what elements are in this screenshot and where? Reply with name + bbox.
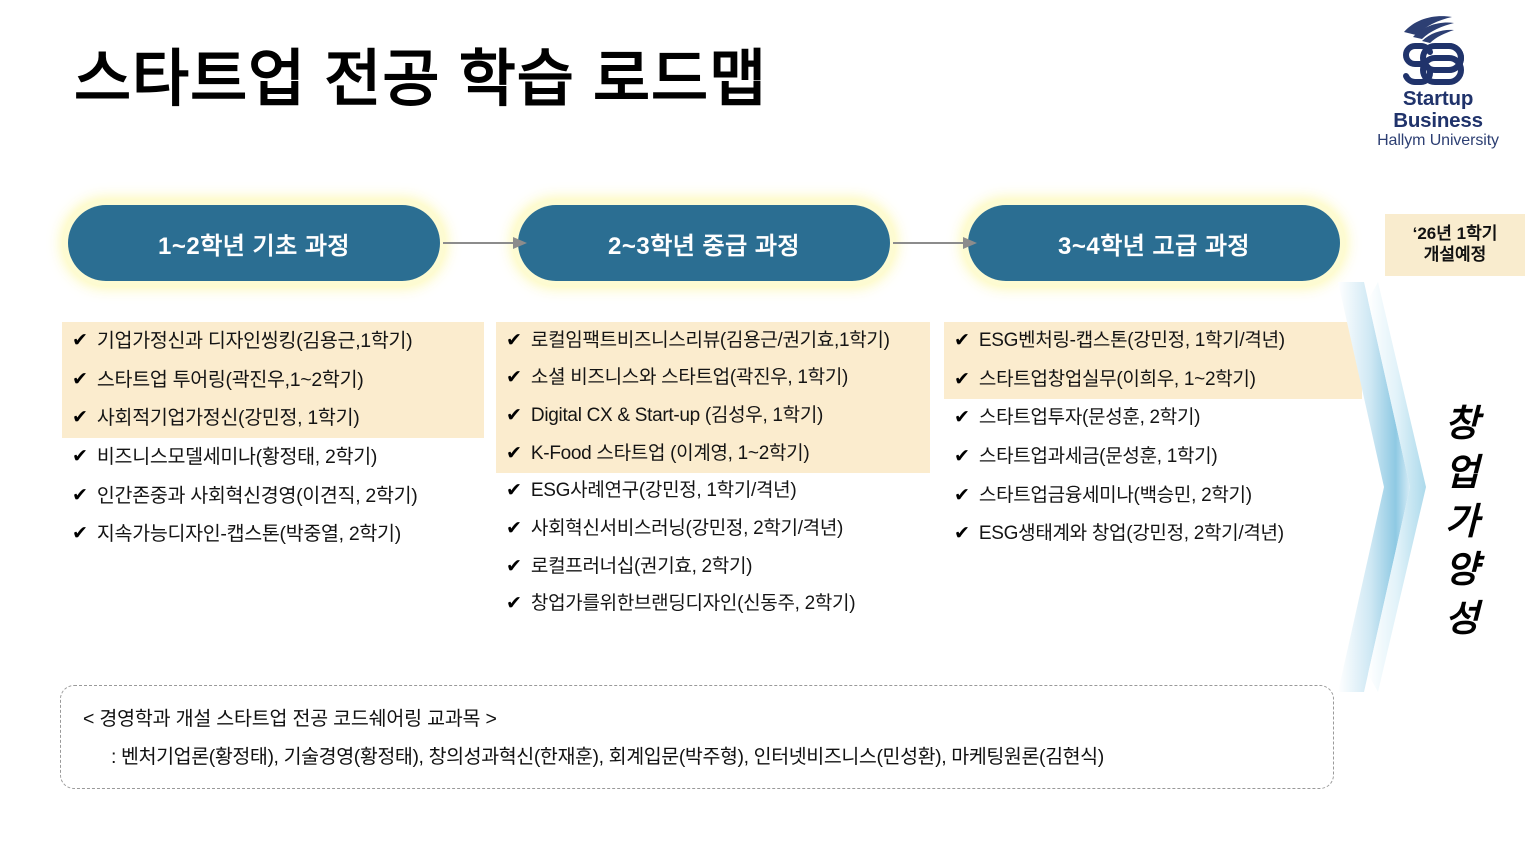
course-item[interactable]: ✔로컬프러너십(권기효, 2학기) [496, 548, 930, 586]
course-item-label: 스타트업금융세미나(백승민, 2학기) [979, 484, 1354, 508]
course-item-label: 스타트업창업실무(이희우, 1~2학기) [979, 368, 1354, 392]
course-column-advanced: ✔ESG벤처링-캡스톤(강민정, 1학기/격년)✔스타트업창업실무(이희우, 1… [944, 322, 1362, 554]
course-item[interactable]: ✔스타트업과세금(문성훈, 1학기) [944, 438, 1362, 477]
course-item-label: 지속가능디자인-캡스톤(박중열, 2학기) [97, 522, 476, 546]
course-column-intermediate: ✔로컬임팩트비즈니스리뷰(김용근/권기효,1학기)✔소셜 비즈니스와 스타트업(… [496, 322, 930, 624]
growth-caption-char: 성 [1430, 595, 1494, 644]
roadmap-slide: 스타트업 전공 학습 로드맵 Startup Business Hallym U… [0, 0, 1526, 860]
codeshare-footer-box: < 경영학과 개설 스타트업 전공 코드쉐어링 교과목 > : 벤처기업론(황정… [60, 685, 1334, 789]
arrow-shaft [893, 242, 965, 244]
logo: Startup Business Hallym University [1358, 12, 1518, 132]
course-item[interactable]: ✔스타트업창업실무(이희우, 1~2학기) [944, 361, 1362, 400]
checkmark-icon: ✔ [506, 329, 522, 354]
course-item-label: 소셜 비즈니스와 스타트업(곽진우, 1학기) [531, 366, 922, 390]
sb-monogram-icon [1386, 12, 1490, 88]
checkmark-icon: ✔ [72, 522, 88, 547]
note-badge-line1: ‘26년 1학기 [1389, 223, 1521, 244]
course-item[interactable]: ✔창업가를위한브랜딩디자인(신동주, 2학기) [496, 586, 930, 624]
course-item[interactable]: ✔스타트업투자(문성훈, 2학기) [944, 399, 1362, 438]
note-badge: ‘26년 1학기 개설예정 [1385, 214, 1525, 276]
checkmark-icon: ✔ [954, 484, 970, 509]
course-item-label: 창업가를위한브랜딩디자인(신동주, 2학기) [531, 592, 922, 616]
arrow-head [513, 237, 527, 249]
stage-pill-intermediate[interactable]: 2~3학년 중급 과정 [518, 205, 890, 281]
course-item[interactable]: ✔K-Food 스타트업 (이계영, 1~2학기) [496, 435, 930, 473]
course-column-basic: ✔기업가정신과 디자인씽킹(김용근,1학기)✔스타트업 투어링(곽진우,1~2학… [62, 322, 484, 554]
stage-connector-arrow-icon [893, 236, 979, 250]
stage-pill-advanced[interactable]: 3~4학년 고급 과정 [968, 205, 1340, 281]
course-item[interactable]: ✔ESG사례연구(강민정, 1학기/격년) [496, 473, 930, 511]
course-item-label: ESG생태계와 창업(강민정, 2학기/격년) [979, 522, 1354, 546]
growth-caption-char: 가 [1430, 498, 1494, 547]
course-item[interactable]: ✔지속가능디자인-캡스톤(박중열, 2학기) [62, 515, 484, 554]
course-item[interactable]: ✔스타트업금융세미나(백승민, 2학기) [944, 477, 1362, 516]
logo-secondary-text: Hallym University [1358, 131, 1518, 150]
course-item[interactable]: ✔사회혁신서비스러닝(강민정, 2학기/격년) [496, 510, 930, 548]
course-item-label: ESG사례연구(강민정, 1학기/격년) [531, 479, 922, 503]
checkmark-icon: ✔ [506, 366, 522, 391]
codeshare-heading: < 경영학과 개설 스타트업 전공 코드쉐어링 교과목 > [83, 702, 1311, 731]
course-item[interactable]: ✔기업가정신과 디자인씽킹(김용근,1학기) [62, 322, 484, 361]
course-item-label: 스타트업 투어링(곽진우,1~2학기) [97, 368, 476, 392]
course-item[interactable]: ✔ESG벤처링-캡스톤(강민정, 1학기/격년) [944, 322, 1362, 361]
course-item-label: 로컬프러너십(권기효, 2학기) [531, 555, 922, 579]
course-item[interactable]: ✔사회적기업가정신(강민정, 1학기) [62, 399, 484, 438]
course-item-label: 사회혁신서비스러닝(강민정, 2학기/격년) [531, 517, 922, 541]
checkmark-icon: ✔ [72, 368, 88, 393]
growth-caption: 창 업 가 양 성 [1430, 400, 1494, 644]
course-item[interactable]: ✔비즈니스모델세미나(황정태, 2학기) [62, 438, 484, 477]
stage-pill-basic[interactable]: 1~2학년 기초 과정 [68, 205, 440, 281]
course-item-label: 스타트업과세금(문성훈, 1학기) [979, 445, 1354, 469]
course-item-label: Digital CX & Start-up (김성우, 1학기) [531, 404, 922, 428]
course-item-label: 인간존중과 사회혁신경영(이견직, 2학기) [97, 484, 476, 508]
double-chevron-right-icon [1338, 282, 1434, 692]
course-item-label: 로컬임팩트비즈니스리뷰(김용근/권기효,1학기) [531, 329, 922, 353]
checkmark-icon: ✔ [506, 442, 522, 467]
checkmark-icon: ✔ [954, 522, 970, 547]
checkmark-icon: ✔ [506, 555, 522, 580]
checkmark-icon: ✔ [506, 404, 522, 429]
checkmark-icon: ✔ [954, 368, 970, 393]
codeshare-body: : 벤처기업론(황정태), 기술경영(황정태), 창의성과혁신(한재훈), 회계… [83, 740, 1311, 769]
course-item[interactable]: ✔소셜 비즈니스와 스타트업(곽진우, 1학기) [496, 360, 930, 398]
logo-primary-text: Startup Business [1358, 88, 1518, 131]
note-badge-line2: 개설예정 [1389, 244, 1521, 265]
course-item-label: ESG벤처링-캡스톤(강민정, 1학기/격년) [979, 329, 1354, 353]
growth-caption-char: 창 [1430, 400, 1494, 449]
course-item-label: K-Food 스타트업 (이계영, 1~2학기) [531, 442, 922, 466]
course-item[interactable]: ✔스타트업 투어링(곽진우,1~2학기) [62, 361, 484, 400]
stage-connector-arrow-icon [443, 236, 529, 250]
checkmark-icon: ✔ [72, 329, 88, 354]
checkmark-icon: ✔ [506, 592, 522, 617]
checkmark-icon: ✔ [72, 445, 88, 470]
course-item[interactable]: ✔인간존중과 사회혁신경영(이견직, 2학기) [62, 477, 484, 516]
growth-caption-char: 업 [1430, 449, 1494, 498]
page-title: 스타트업 전공 학습 로드맵 [74, 28, 767, 118]
course-item[interactable]: ✔Digital CX & Start-up (김성우, 1학기) [496, 397, 930, 435]
arrow-shaft [443, 242, 515, 244]
arrow-head [963, 237, 977, 249]
course-item[interactable]: ✔ESG생태계와 창업(강민정, 2학기/격년) [944, 515, 1362, 554]
checkmark-icon: ✔ [72, 484, 88, 509]
growth-caption-char: 양 [1430, 546, 1494, 595]
course-item-label: 사회적기업가정신(강민정, 1학기) [97, 406, 476, 430]
checkmark-icon: ✔ [954, 406, 970, 431]
course-item-label: 기업가정신과 디자인씽킹(김용근,1학기) [97, 329, 476, 353]
course-item-label: 스타트업투자(문성훈, 2학기) [979, 406, 1354, 430]
course-item[interactable]: ✔로컬임팩트비즈니스리뷰(김용근/권기효,1학기) [496, 322, 930, 360]
checkmark-icon: ✔ [72, 406, 88, 431]
checkmark-icon: ✔ [954, 329, 970, 354]
checkmark-icon: ✔ [954, 445, 970, 470]
course-item-label: 비즈니스모델세미나(황정태, 2학기) [97, 445, 476, 469]
checkmark-icon: ✔ [506, 479, 522, 504]
checkmark-icon: ✔ [506, 517, 522, 542]
